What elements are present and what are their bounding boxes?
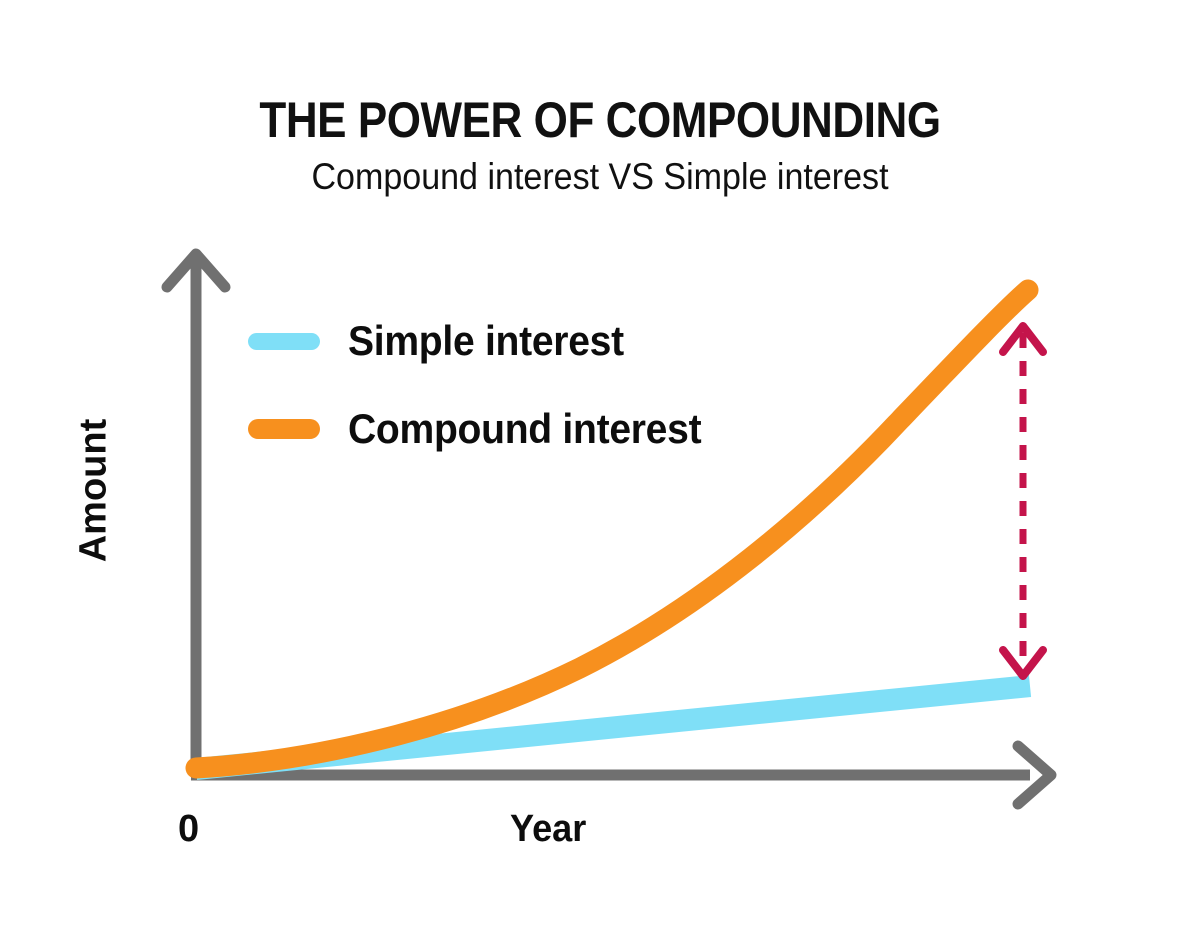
legend-item-compound-interest[interactable]: Compound interest bbox=[248, 398, 768, 460]
y-axis-title-text: Amount bbox=[73, 418, 116, 562]
legend-label-simple-interest: Simple interest bbox=[348, 317, 624, 365]
chart-legend: Simple interest Compound interest bbox=[248, 310, 768, 460]
legend-label-compound-interest: Compound interest bbox=[348, 405, 701, 453]
compound-interest-swatch bbox=[248, 419, 320, 439]
x-axis-title: Year bbox=[510, 808, 586, 851]
simple-interest-swatch bbox=[248, 333, 320, 350]
chart-plot-area bbox=[0, 0, 1200, 949]
origin-tick-label: 0 bbox=[178, 808, 199, 851]
legend-item-simple-interest[interactable]: Simple interest bbox=[248, 310, 768, 372]
y-axis-title: Amount bbox=[74, 390, 114, 590]
compounding-infographic: THE POWER OF COMPOUNDING Compound intere… bbox=[0, 0, 1200, 949]
